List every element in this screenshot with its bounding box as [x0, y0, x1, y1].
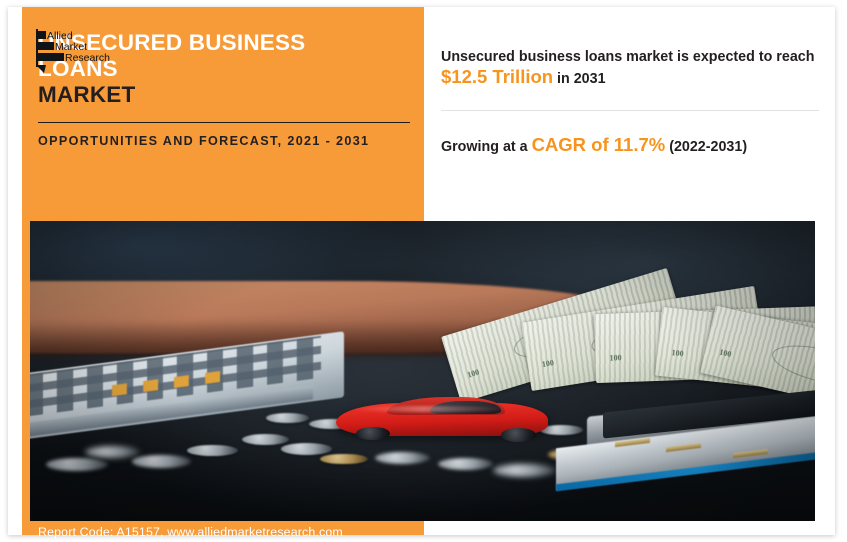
- coin: [375, 452, 430, 464]
- infographic-card: UNSECURED BUSINESS LOANS MARKET OPPORTUN…: [8, 7, 835, 535]
- coin: [242, 434, 289, 445]
- coin: [187, 445, 238, 456]
- coin: [132, 455, 191, 468]
- coin: [85, 446, 140, 458]
- market-value-suffix: in 2031: [553, 71, 605, 87]
- market-value-prefix: Unsecured business loans market is expec…: [441, 49, 814, 65]
- report-title-line-3: MARKET: [38, 82, 416, 108]
- cagr-statement: Growing at a CAGR of 11.7% (2022-2031): [441, 135, 831, 157]
- allied-market-research-logo-icon: Allied Market Research: [36, 29, 132, 77]
- market-value-figure: $12.5 Trillion: [441, 66, 553, 87]
- toy-car-highlight: [352, 406, 509, 412]
- hero-photo: 100 100 100 100 100: [30, 221, 815, 521]
- cagr-prefix: Growing at a: [441, 139, 532, 155]
- cagr-figure: CAGR of 11.7%: [532, 134, 666, 155]
- toy-car-wheel: [501, 428, 536, 442]
- report-subtitle: OPPORTUNITIES AND FORECAST, 2021 - 2031: [38, 133, 416, 150]
- coin-gold: [320, 454, 367, 465]
- coin: [266, 413, 309, 423]
- photo-scene: 100 100 100 100 100: [30, 221, 815, 521]
- svg-text:Research: Research: [65, 52, 110, 64]
- cagr-suffix: (2022-2031): [665, 139, 747, 155]
- key-figures-panel: Unsecured business loans market is expec…: [435, 7, 835, 217]
- title-divider-rule: [38, 122, 410, 123]
- market-value-statement: Unsecured business loans market is expec…: [441, 47, 821, 89]
- coin: [281, 443, 332, 455]
- coin: [438, 458, 493, 470]
- report-code-text: Report Code: A15157, www.alliedmarketres…: [38, 525, 343, 539]
- panel-divider-rule: [441, 110, 819, 111]
